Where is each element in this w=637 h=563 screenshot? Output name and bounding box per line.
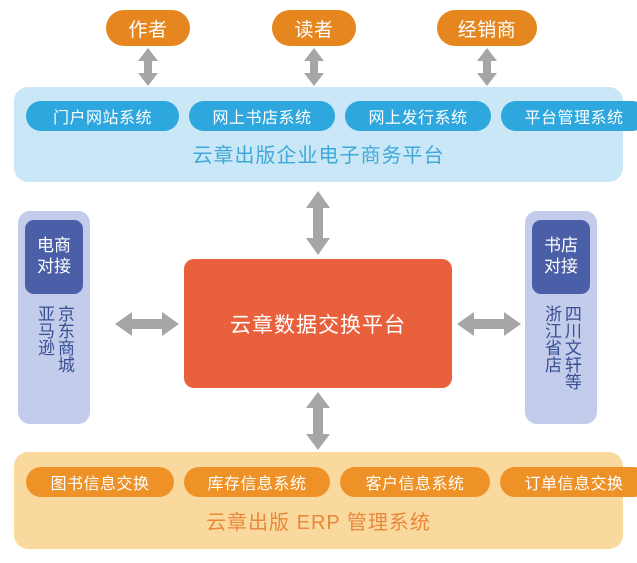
partner-name-amazon: 亚马逊 [35, 305, 53, 418]
erp-module-label: 图书信息交换 [50, 470, 149, 494]
connector-hub-to-bookstore [456, 309, 522, 339]
system-pill-portal[interactable]: 门户网站系统 [26, 101, 179, 131]
erp-system-container: 图书信息交换 库存信息系统 客户信息系统 订单信息交换 云章出版 ERP 管理系… [14, 452, 623, 549]
data-exchange-hub[interactable]: 云章数据交换平台 [184, 259, 452, 388]
connector-ecommerce-to-hub [114, 309, 180, 339]
system-pill-online-distribution[interactable]: 网上发行系统 [345, 101, 491, 131]
system-label: 网上发行系统 [368, 104, 467, 128]
side-panel-ecommerce-connector[interactable]: 电商 对接 京东商城 亚马逊 [18, 211, 90, 424]
connector-dealer-to-platform [474, 47, 500, 87]
ecommerce-platform-container: 门户网站系统 网上书店系统 网上发行系统 平台管理系统 云章出版企业电子商务平台 [14, 87, 623, 182]
ecommerce-platform-title: 云章出版企业电子商务平台 [14, 139, 623, 168]
side-panel-partners-bookstore: 四川文轩等 浙江省店 [525, 305, 597, 418]
system-pill-platform-management[interactable]: 平台管理系统 [501, 101, 637, 131]
side-head-line1: 电商 [37, 236, 71, 257]
partner-name-sichuan-wenxuan: 四川文轩等 [562, 305, 580, 418]
connector-hub-to-erp [303, 391, 333, 451]
erp-module-label: 客户信息系统 [365, 470, 464, 494]
side-head-line1: 书店 [544, 236, 578, 257]
actor-label: 读者 [294, 15, 333, 42]
side-head-line2: 对接 [37, 257, 71, 278]
side-panel-header-bookstore: 书店 对接 [532, 220, 590, 294]
system-label: 门户网站系统 [53, 104, 152, 128]
system-label: 平台管理系统 [524, 104, 623, 128]
partner-name-jd: 京东商城 [55, 305, 73, 418]
side-panel-header-ecommerce: 电商 对接 [25, 220, 83, 294]
partner-name-zhejiang: 浙江省店 [542, 305, 560, 418]
data-exchange-hub-label: 云章数据交换平台 [230, 309, 406, 339]
system-label: 网上书店系统 [212, 104, 311, 128]
erp-pill-book-info-exchange[interactable]: 图书信息交换 [26, 467, 174, 497]
system-pill-online-bookstore[interactable]: 网上书店系统 [189, 101, 335, 131]
erp-pill-order-info-exchange[interactable]: 订单信息交换 [500, 467, 637, 497]
side-panel-partners-ecommerce: 京东商城 亚马逊 [18, 305, 90, 418]
actor-label: 经销商 [458, 15, 517, 42]
erp-pill-customer-info[interactable]: 客户信息系统 [340, 467, 490, 497]
connector-reader-to-platform [301, 47, 327, 87]
architecture-diagram: 作者 读者 经销商 门户网站系统 网上书店系统 网上发行系统 平台管理系统 云章… [0, 0, 637, 563]
erp-module-label: 订单信息交换 [524, 470, 623, 494]
side-panel-bookstore-connector[interactable]: 书店 对接 四川文轩等 浙江省店 [525, 211, 597, 424]
erp-module-label: 库存信息系统 [207, 470, 306, 494]
actor-pill-dealer[interactable]: 经销商 [437, 10, 537, 46]
erp-pill-inventory-info[interactable]: 库存信息系统 [184, 467, 330, 497]
actor-label: 作者 [128, 15, 167, 42]
actor-pill-reader[interactable]: 读者 [272, 10, 356, 46]
connector-platform-to-hub [303, 190, 333, 256]
side-head-line2: 对接 [544, 257, 578, 278]
connector-author-to-platform [135, 47, 161, 87]
actor-pill-author[interactable]: 作者 [106, 10, 190, 46]
erp-system-title: 云章出版 ERP 管理系统 [14, 506, 623, 535]
